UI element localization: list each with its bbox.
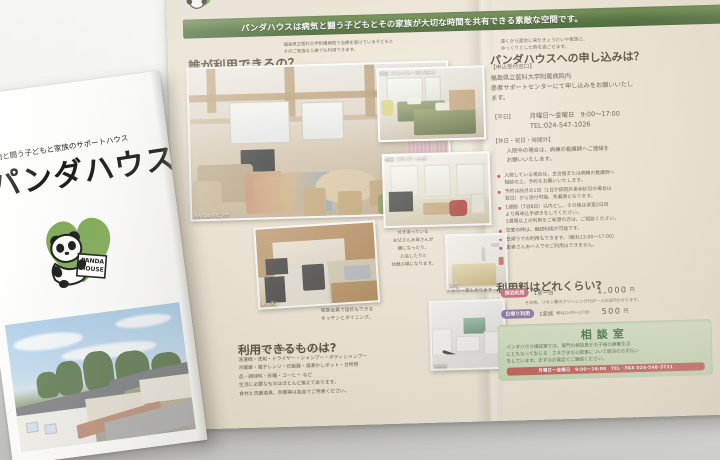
application-window-body: 福島県立医科大学附属病院内 患者サポートセンターにて申し込みをお願いいたし ます… [490, 69, 691, 105]
caption-washroom: 洗面室 [433, 362, 447, 368]
fee-amount-overnight: 1,000 [597, 285, 628, 295]
label-weekday: 【平日】 [492, 112, 515, 121]
fee-tag-overnight: 宿泊利用 [500, 288, 528, 298]
photo-bedroom: 洋室（リンリン・カンカン） [376, 65, 486, 142]
brochure-photo-scene: パンダハウスは病気と闘う子どもとその家族が大切な時間を共有できる素敵な空間です。… [0, 0, 720, 460]
panda-logo-icon [180, 0, 215, 10]
cover-exterior-photo [5, 302, 196, 452]
fee-sub-daytrip: 概ね13:00～17:00 [556, 309, 589, 316]
green-banner: パンダハウスは病気と闘う子どもとその家族が大切な時間を共有できる素敵な空間です。 [183, 5, 720, 39]
banner-text: パンダハウスは病気と闘う子どもとその家族が大切な時間を共有できる素敵な空間です。 [183, 12, 583, 35]
label-application-window: 【申込受付窓口】 [490, 62, 535, 71]
rest-area-note: 付き添っている お父さんお母さんが 横になったり、 入浴したりと 休憩の場になり… [379, 228, 448, 270]
weekday-hours: 月曜日～金曜日 9:00～17:00 [529, 109, 620, 121]
fee-unit-overnight: 円 [629, 286, 634, 293]
photo-kitchen: キッチン [253, 220, 380, 309]
fee-amount-daytrip: 500 [602, 307, 622, 317]
caption-living-room: みんなのリビング [193, 212, 229, 219]
kitchen-note: 家族全員で自炊もできる キッチンとダイニング。 [287, 306, 407, 325]
who-can-use-body: 福島県立医科大学附属病院で治療を受けている子どもと そのご家族なら誰でも利用でき… [283, 39, 423, 57]
caption-kitchen: キッチン [261, 300, 279, 307]
fee-note-overnight: その他、リネン類のクリーニング代が一人500円かかります。 [525, 297, 642, 306]
fee-tag-daytrip: 日帰り利用 [501, 309, 534, 319]
brochure-inner-spread: パンダハウスは病気と闘う子どもとその家族が大切な時間を共有できる素敵な空間です。… [166, 0, 720, 430]
caption-shower-note: シャワー室もあります [446, 287, 492, 294]
holiday-body: 入院中の場合は、病棟の看護師へご連絡を お願いいたします。 [507, 142, 697, 165]
fee-row-daytrip: 日帰り利用 1家族 概ね13:00～17:00 500 円 [501, 304, 711, 319]
consultation-room-box: 相談室 パンダハウス相談室では、専門の相談員がお子様の療養生活 にともなって生じ… [497, 319, 712, 381]
caption-japanese-room: 和室（ブリア・ルル） [385, 155, 430, 162]
fee-unit-daytrip: 円 [623, 307, 628, 314]
weekday-telephone: TEL:024-547-1026 [530, 120, 591, 130]
fee-desc-overnight: 1室一泊 [533, 288, 553, 297]
photo-washroom: 洗面室 [429, 299, 507, 371]
available-items-body: テレビ・ビデオ・絵本・ピアノ・おもちゃ 洗濯機・洗剤・ドライヤー・シャンプー・ボ… [238, 343, 439, 400]
label-holiday: 【休日・祝日・時間外】 [492, 135, 554, 145]
photo-japanese-room: 和室（ブリア・ルル） [382, 151, 492, 228]
fee-desc-daytrip: 1家族 [539, 309, 553, 317]
panda-logo-illustration: PANDA HOUSE [30, 199, 132, 294]
application-rules-list: 入院している場合は、主治医または病棟の看護師へ 相談の上、予約をお願いいたします… [497, 167, 699, 253]
